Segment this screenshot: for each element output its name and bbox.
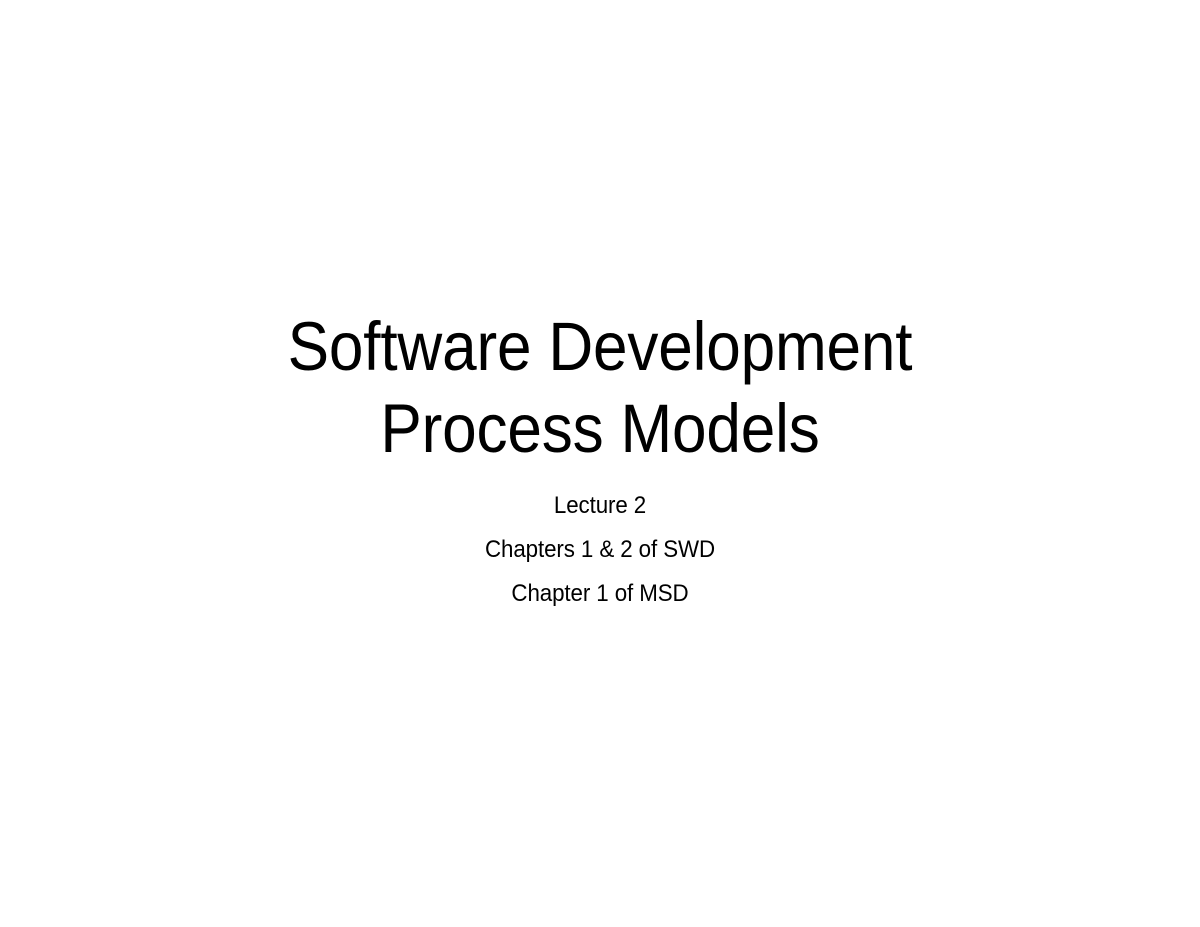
subtitle-line-lecture: Lecture 2	[42, 484, 1158, 528]
subtitle-line-msd-chapter: Chapter 1 of MSD	[42, 572, 1158, 616]
page-title: Software Development Process Models	[60, 306, 1140, 470]
slide-title-placeholder: Software Development Process Models	[0, 306, 1200, 470]
subtitle-line-swd-chapters: Chapters 1 & 2 of SWD	[42, 528, 1158, 572]
presentation-slide: Software Development Process Models Lect…	[0, 0, 1200, 927]
slide-subtitle-placeholder: Lecture 2 Chapters 1 & 2 of SWD Chapter …	[0, 484, 1200, 616]
